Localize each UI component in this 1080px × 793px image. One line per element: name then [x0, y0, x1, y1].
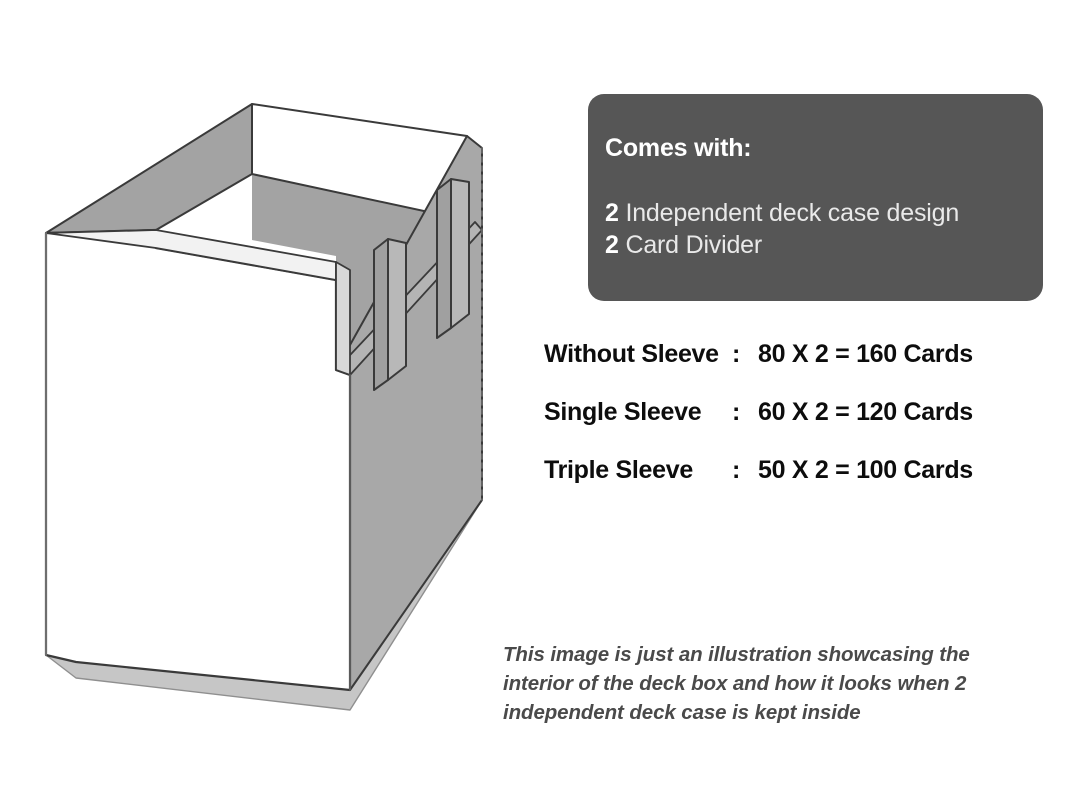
card-divider-fin-right-inner	[437, 179, 451, 338]
spec-colon: :	[732, 340, 758, 369]
deck-box-illustration	[20, 70, 520, 740]
comes-with-heading: Comes with:	[605, 136, 1043, 161]
item-quantity: 2	[605, 231, 619, 259]
card-divider-fin-middle-inner	[374, 239, 388, 390]
interior-back-wall	[46, 104, 252, 233]
spec-row: Single Sleeve : 60 X 2 = 120 Cards	[544, 398, 1044, 456]
item-quantity: 2	[605, 199, 619, 227]
capacity-specs: Without Sleeve : 80 X 2 = 160 Cards Sing…	[544, 340, 1044, 514]
spec-colon: :	[732, 398, 758, 427]
comes-with-card: Comes with: 2 Independent deck case desi…	[588, 94, 1043, 301]
spec-row: Without Sleeve : 80 X 2 = 160 Cards	[544, 340, 1044, 398]
spec-value: 60 X 2 = 120 Cards	[758, 398, 1044, 427]
deck-box-svg	[20, 70, 520, 740]
spec-value: 50 X 2 = 100 Cards	[758, 456, 1044, 485]
item-label: Independent deck case design	[625, 199, 959, 227]
spec-value: 80 X 2 = 160 Cards	[758, 340, 1044, 369]
list-item: 2 Independent deck case design	[605, 197, 1043, 229]
box-front-lip	[336, 262, 350, 375]
spec-label: Single Sleeve	[544, 398, 732, 427]
box-front-left-face	[46, 230, 350, 690]
spec-row: Triple Sleeve : 50 X 2 = 100 Cards	[544, 456, 1044, 514]
list-item: 2 Card Divider	[605, 229, 1043, 261]
disclaimer-text: This image is just an illustration showc…	[503, 640, 1033, 727]
item-label: Card Divider	[625, 231, 762, 259]
spec-label: Without Sleeve	[544, 340, 732, 369]
spec-colon: :	[732, 456, 758, 485]
card-divider-fin-right	[451, 179, 469, 328]
comes-with-list: 2 Independent deck case design 2 Card Di…	[605, 197, 1043, 261]
product-infographic-page: Comes with: 2 Independent deck case desi…	[0, 0, 1080, 793]
card-divider-fin-middle	[388, 239, 406, 380]
spec-label: Triple Sleeve	[544, 456, 732, 485]
